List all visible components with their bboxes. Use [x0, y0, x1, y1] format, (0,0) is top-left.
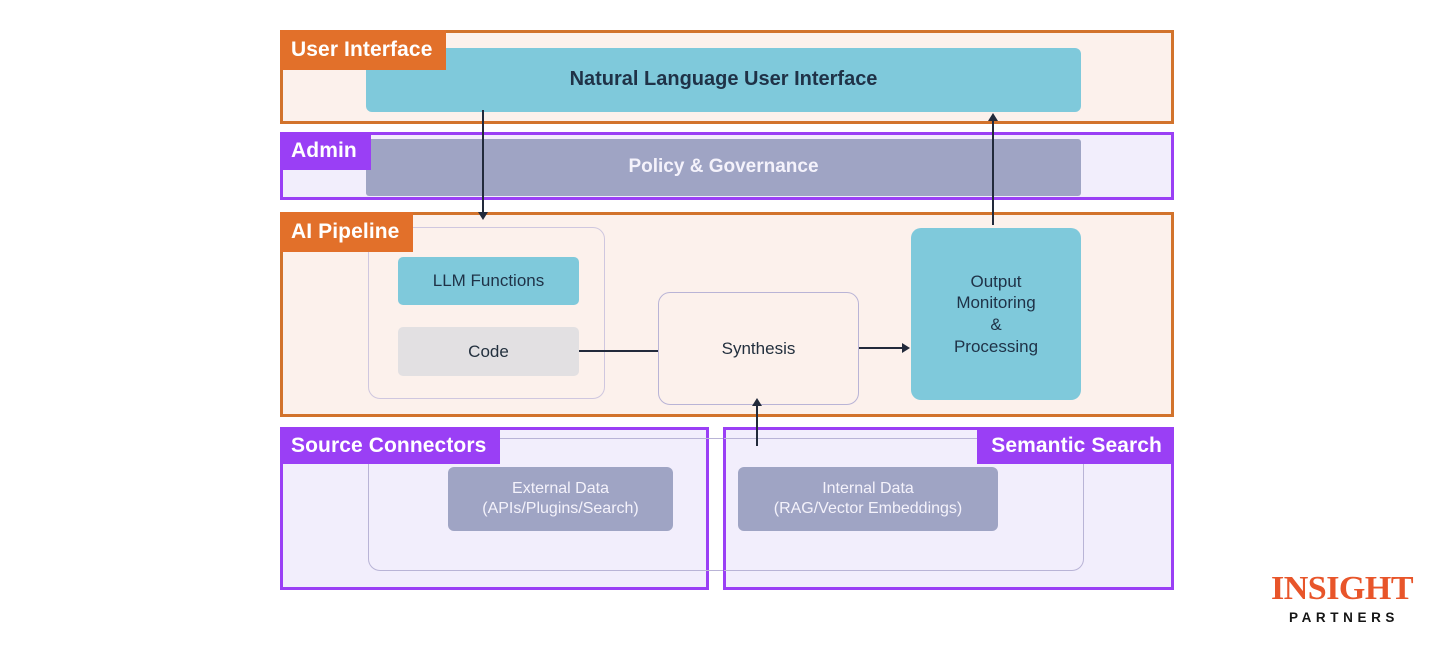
output-monitoring-line-4: Processing — [954, 336, 1038, 358]
synthesis-label: Synthesis — [722, 338, 796, 360]
box-output-monitoring[interactable]: Output Monitoring & Processing — [911, 228, 1081, 400]
section-label-ai-pipeline: AI Pipeline — [280, 212, 413, 252]
arrowhead-output-to-nlui — [988, 113, 998, 121]
connector-nlui-to-pipeline — [482, 110, 484, 218]
section-ai-pipeline: AI Pipeline LLM Functions Code Synthesis… — [280, 212, 1174, 417]
section-semantic-search: Semantic Search Internal Data (RAG/Vecto… — [723, 427, 1174, 590]
box-llm-functions[interactable]: LLM Functions — [398, 257, 579, 305]
insight-partners-logo: INSIGHT PARTNERS — [1262, 572, 1422, 625]
ai-pipeline-label: AI Pipeline — [291, 220, 399, 244]
box-policy-governance[interactable]: Policy & Governance — [366, 139, 1081, 196]
box-code[interactable]: Code — [398, 327, 579, 376]
connector-synthesis-to-output — [859, 347, 903, 349]
connector-data-to-synthesis — [756, 404, 758, 446]
box-internal-data[interactable]: Internal Data (RAG/Vector Embeddings) — [738, 467, 998, 531]
section-source-connectors: Source Connectors External Data (APIs/Pl… — [280, 427, 709, 590]
llm-functions-label: LLM Functions — [433, 270, 545, 292]
diagram-canvas: User Interface Natural Language User Int… — [0, 0, 1446, 649]
user-interface-label: User Interface — [291, 38, 432, 62]
external-data-line-1: External Data — [512, 479, 609, 499]
box-natural-language-user-interface[interactable]: Natural Language User Interface — [366, 48, 1081, 112]
box-external-data[interactable]: External Data (APIs/Plugins/Search) — [448, 467, 673, 531]
section-label-user-interface: User Interface — [280, 30, 446, 70]
section-label-source-connectors: Source Connectors — [280, 427, 500, 464]
logo-secondary-text: PARTNERS — [1262, 611, 1422, 625]
arrowhead-nlui-to-pipeline — [478, 212, 488, 220]
connector-output-to-nlui — [992, 120, 994, 225]
connector-code-to-synthesis — [579, 350, 658, 352]
output-monitoring-line-2: Monitoring — [956, 292, 1035, 314]
section-admin: Admin Policy & Governance — [280, 132, 1174, 200]
output-monitoring-line-1: Output — [970, 271, 1021, 293]
output-monitoring-line-3: & — [990, 314, 1001, 336]
source-connectors-label: Source Connectors — [291, 434, 486, 458]
arrowhead-synthesis-to-output — [902, 343, 910, 353]
policy-governance-label: Policy & Governance — [628, 155, 818, 179]
internal-data-line-2: (RAG/Vector Embeddings) — [774, 499, 963, 519]
semantic-search-label: Semantic Search — [991, 434, 1162, 458]
internal-data-line-1: Internal Data — [822, 479, 914, 499]
logo-primary-text: INSIGHT — [1262, 572, 1422, 606]
section-user-interface: User Interface Natural Language User Int… — [280, 30, 1174, 124]
section-label-admin: Admin — [280, 132, 371, 170]
nlui-label: Natural Language User Interface — [570, 67, 878, 93]
external-data-line-2: (APIs/Plugins/Search) — [482, 499, 639, 519]
box-synthesis[interactable]: Synthesis — [658, 292, 859, 405]
arrowhead-data-to-synthesis — [752, 398, 762, 406]
admin-label: Admin — [291, 139, 357, 163]
code-label: Code — [468, 341, 509, 363]
section-label-semantic-search: Semantic Search — [977, 427, 1174, 464]
